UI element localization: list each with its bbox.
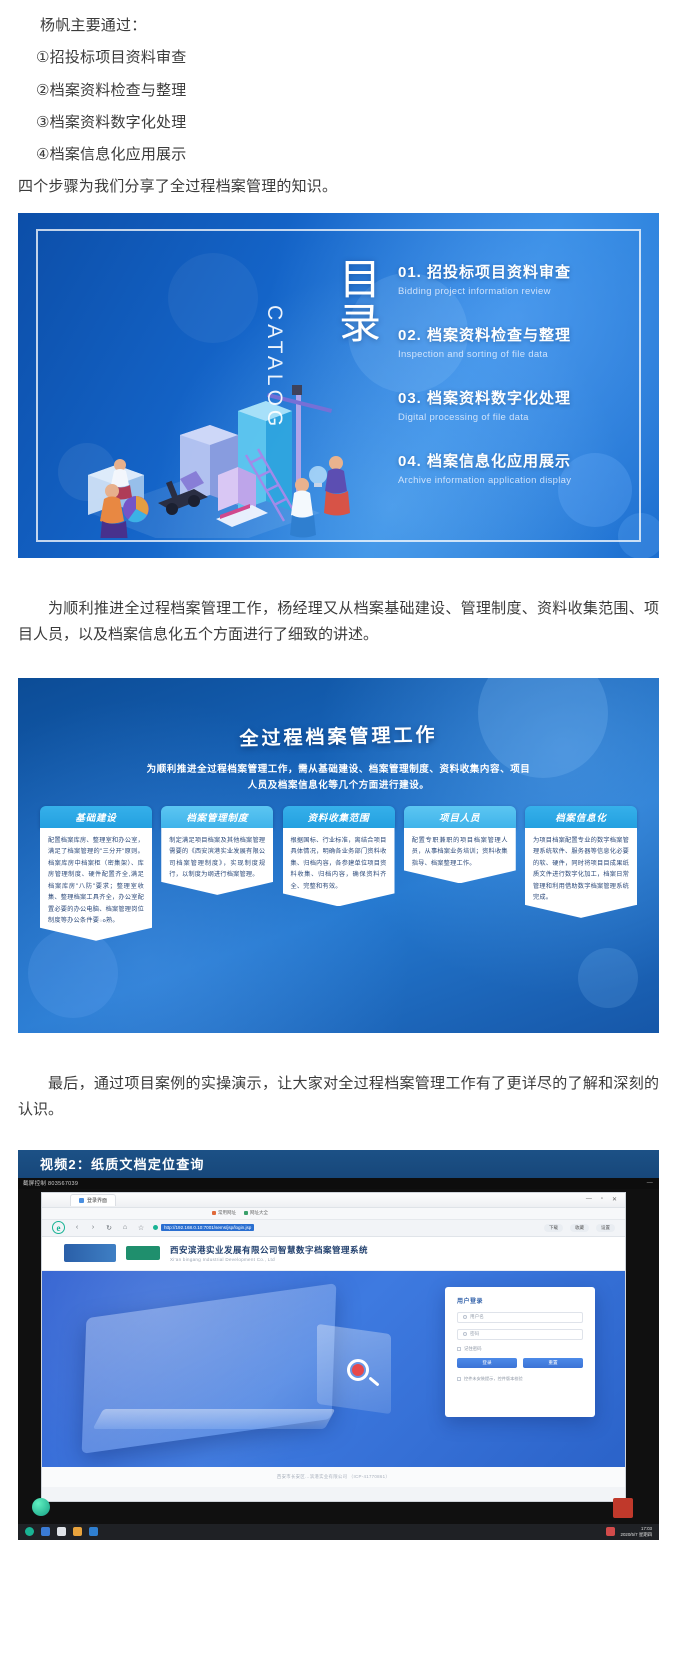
paragraph-mid: 为顺利推进全过程档案管理工作，杨经理又从档案基础建设、管理制度、资料收集范围、项…: [18, 558, 659, 649]
intro-lead: 杨帆主要通过：: [18, 14, 659, 37]
catalog-item-02-subtitle: Inspection and sorting of file data: [398, 349, 638, 360]
catalog-item-03-number: 03.: [398, 390, 422, 407]
home-icon[interactable]: ⌂: [121, 1224, 129, 1231]
login-hero: 用户登录 用户名 密码 记住密码: [42, 1271, 625, 1467]
intro-step-3: ③档案资料数字化处理: [18, 111, 659, 134]
login-button-row: 登录 重置: [457, 1358, 583, 1368]
infographic-card-1-body: 配置档案库房、整理室和办公室，满足了档案管理的"三分开"原则。档案库房中档案柜（…: [40, 828, 152, 941]
company-logo-secondary-icon: [126, 1246, 160, 1260]
intro-closing: 四个步骤为我们分享了全过程档案管理的知识。: [18, 175, 659, 198]
infographic-card-3: 资料收集范围 根据国标、行业标准，离结合项目具体情况，明确各业务部门资料收集、归…: [283, 806, 395, 941]
browser-window: 登录界面 — ▫ ✕ 常用网址 网址大全: [41, 1192, 626, 1502]
infographic: 全过程档案管理工作 为顺利推进全过程档案管理工作，需从基础建设、档案管理制度、资…: [18, 678, 659, 1033]
browser-tab[interactable]: 登录界面: [70, 1194, 116, 1206]
taskbar-tray: 17:03 2020/5/7 星期四: [606, 1526, 652, 1537]
back-arrow-icon[interactable]: ‹: [73, 1224, 81, 1231]
tab-favicon-icon: [79, 1198, 84, 1203]
decor-bubble: [578, 948, 638, 1008]
username-field[interactable]: 用户名: [457, 1312, 583, 1323]
favorites-button[interactable]: 收藏: [570, 1224, 589, 1232]
recorder-stop-button[interactable]: [613, 1498, 633, 1518]
infographic-card-4-header: 项目人员: [404, 806, 516, 828]
user-icon: [463, 1315, 467, 1319]
favorite-star-icon[interactable]: ☆: [137, 1224, 145, 1232]
recorder-bar: 截屏控制 803567039 —: [18, 1178, 659, 1189]
screen-capture-title: 视频2：纸质文档定位查询: [18, 1150, 659, 1178]
catalog-item-04-title: 档案信息化应用展示: [427, 453, 571, 470]
forward-arrow-icon[interactable]: ›: [89, 1224, 97, 1231]
infographic-card-row: 基础建设 配置档案库房、整理室和办公室，满足了档案管理的"三分开"原则。档案库房…: [40, 806, 637, 941]
browser-tab-strip: 登录界面 — ▫ ✕: [42, 1193, 625, 1208]
secure-lock-icon: [153, 1225, 158, 1230]
checkbox-icon: [457, 1347, 461, 1351]
infographic-card-5-body: 为项目档案配置专业的数字档案管理系统软件、服务器等信息化必要的软、硬件，同时将项…: [525, 828, 637, 918]
infographic-card-2-body: 制定满足项目档案及其他档案管理需要的《西安滨港实业发展有限公司档案管理制度》，实…: [161, 828, 273, 895]
illustration-svg: [70, 363, 360, 538]
infographic-card-2: 档案管理制度 制定满足项目档案及其他档案管理需要的《西安滨港实业发展有限公司档案…: [161, 806, 273, 941]
taskbar-explorer-icon[interactable]: [57, 1527, 66, 1536]
catalog-item-01-number: 01.: [398, 264, 422, 281]
catalog-item-01: 01. 招投标项目资料审查 Bidding project informatio…: [398, 261, 638, 297]
catalog-list: 01. 招投标项目资料审查 Bidding project informatio…: [398, 261, 638, 513]
bookmark-item-2[interactable]: 网址大全: [244, 1210, 268, 1216]
control-install-note-label: 控件未安装提示，控件版本校验: [464, 1376, 523, 1382]
decor-bubble: [28, 928, 118, 1018]
catalog-item-03: 03. 档案资料数字化处理 Digital processing of file…: [398, 387, 638, 423]
windows-taskbar: 17:03 2020/5/7 星期四: [18, 1524, 659, 1540]
system-title: 西安滨港实业发展有限公司智慧数字档案管理系统: [170, 1244, 368, 1256]
paragraph-mid-text: 为顺利推进全过程档案管理工作，杨经理又从档案基础建设、管理制度、资料收集范围、项…: [18, 600, 659, 643]
system-footer: 西安市长安区…滨港实业有限公司 （ICP-41770861）: [42, 1467, 625, 1487]
catalog-title-cn: 目录: [333, 259, 389, 347]
intro-step-4: ④档案信息化应用展示: [18, 143, 659, 166]
intro-step-2: ②档案资料检查与整理: [18, 79, 659, 102]
toolbar-right-actions: 下载 收藏 设置: [544, 1224, 615, 1232]
paragraph-end-text: 最后，通过项目案例的实操演示，让大家对全过程档案管理工作有了更详尽的了解和深刻的…: [18, 1075, 659, 1118]
refresh-icon[interactable]: ↻: [105, 1224, 113, 1232]
system-header-text: 西安滨港实业发展有限公司智慧数字档案管理系统 Xi'an bingang Ind…: [170, 1244, 368, 1262]
company-logo-icon: [64, 1244, 116, 1262]
control-install-note[interactable]: 控件未安装提示，控件版本校验: [457, 1376, 583, 1382]
bookmarks-bar: 常用网址 网址大全: [42, 1208, 625, 1220]
catalog-item-04: 04. 档案信息化应用展示 Archive information applic…: [398, 450, 638, 486]
laptop-base-illustration: [93, 1409, 336, 1429]
catalog-item-02: 02. 档案资料检查与整理 Inspection and sorting of …: [398, 324, 638, 360]
settings-button[interactable]: 设置: [596, 1224, 615, 1232]
bookmark-item-1[interactable]: 常用网址: [212, 1210, 236, 1216]
remember-password-label: 记住密码: [464, 1346, 482, 1352]
login-button[interactable]: 登录: [457, 1358, 517, 1368]
password-field[interactable]: 密码: [457, 1329, 583, 1340]
isometric-illustration: [70, 363, 360, 538]
note-icon: [457, 1377, 461, 1381]
browser-toolbar: e ‹ › ↻ ⌂ ☆ http://192.168.0.10:7001/sem…: [42, 1220, 625, 1237]
browser-tab-label: 登录界面: [87, 1197, 107, 1204]
catalog-banner: 目录 CATALOG 01. 招投标项目资料审查 Bidding project…: [18, 213, 659, 558]
intro-text-block: 杨帆主要通过： ①招投标项目资料审查 ②档案资料检查与整理 ③档案资料数字化处理…: [0, 0, 677, 199]
bookmark-item-1-label: 常用网址: [218, 1210, 236, 1216]
paragraph-end: 最后，通过项目案例的实操演示，让大家对全过程档案管理工作有了更详尽的了解和深刻的…: [18, 1033, 659, 1124]
magnifier-icon: [347, 1359, 369, 1381]
bookmark-item-2-label: 网址大全: [250, 1210, 268, 1216]
bookmark-icon: [212, 1211, 216, 1215]
catalog-banner-figure: 目录 CATALOG 01. 招投标项目资料审查 Bidding project…: [18, 213, 659, 558]
infographic-card-5: 档案信息化 为项目档案配置专业的数字档案管理系统软件、服务器等信息化必要的软、硬…: [525, 806, 637, 941]
catalog-item-02-title: 档案资料检查与整理: [427, 327, 571, 344]
catalog-item-03-title: 档案资料数字化处理: [427, 390, 571, 407]
reset-button[interactable]: 重置: [523, 1358, 583, 1368]
catalog-item-03-subtitle: Digital processing of file data: [398, 412, 638, 423]
download-button[interactable]: 下载: [544, 1224, 563, 1232]
taskbar-clock-date: 2020/5/7 星期四: [621, 1532, 652, 1538]
login-panel: 用户登录 用户名 密码 记住密码: [445, 1287, 595, 1417]
infographic-card-3-header: 资料收集范围: [283, 806, 395, 828]
recorder-minimize-button[interactable]: —: [647, 1180, 653, 1186]
screen-capture-body: 截屏控制 803567039 — 登录界面 — ▫ ✕: [18, 1178, 659, 1540]
catalog-title-en: CATALOG: [262, 305, 286, 430]
catalog-item-04-subtitle: Archive information application display: [398, 475, 638, 486]
infographic-subtitle: 为顺利推进全过程档案管理工作，需从基础建设、档案管理制度、资料收集内容、项目人员…: [146, 762, 531, 793]
infographic-card-5-header: 档案信息化: [525, 806, 637, 828]
password-placeholder: 密码: [470, 1331, 479, 1337]
catalog-item-01-subtitle: Bidding project information review: [398, 286, 638, 297]
start-menu-icon[interactable]: [25, 1527, 34, 1536]
username-placeholder: 用户名: [470, 1314, 484, 1320]
tray-alert-icon[interactable]: [606, 1527, 615, 1536]
lock-icon: [463, 1332, 467, 1336]
system-header: 西安滨港实业发展有限公司智慧数字档案管理系统 Xi'an bingang Ind…: [42, 1237, 625, 1271]
screen-capture: 视频2：纸质文档定位查询 截屏控制 803567039 — 登录界面 — ▫ ✕: [18, 1150, 659, 1540]
intro-step-1: ①招投标项目资料审查: [18, 46, 659, 69]
remember-password-checkbox[interactable]: 记住密码: [457, 1346, 583, 1352]
infographic-card-1-header: 基础建设: [40, 806, 152, 828]
screen-capture-figure: 视频2：纸质文档定位查询 截屏控制 803567039 — 登录界面 — ▫ ✕: [18, 1150, 659, 1540]
catalog-item-04-number: 04.: [398, 453, 422, 470]
taskbar-folder-icon[interactable]: [73, 1527, 82, 1536]
recorder-label: 截屏控制 803567039: [23, 1179, 78, 1187]
infographic-figure: 全过程档案管理工作 为顺利推进全过程档案管理工作，需从基础建设、档案管理制度、资…: [18, 678, 659, 1033]
minimize-icon[interactable]: —: [586, 1196, 592, 1203]
infographic-card-2-header: 档案管理制度: [161, 806, 273, 828]
maximize-icon[interactable]: ▫: [601, 1196, 603, 1203]
close-icon[interactable]: ✕: [612, 1196, 617, 1203]
infographic-card-4-body: 配置专职兼职的项目档案管理人员，从事档案业务培训；资料收集指导、档案整理工作。: [404, 828, 516, 883]
infographic-card-1: 基础建设 配置档案库房、整理室和办公室，满足了档案管理的"三分开"原则。档案库房…: [40, 806, 152, 941]
infographic-card-3-body: 根据国标、行业标准，离结合项目具体情况，明确各业务部门资料收集、归档内容，各参建…: [283, 828, 395, 906]
taskbar-app-icon[interactable]: [89, 1527, 98, 1536]
infographic-card-4: 项目人员 配置专职兼职的项目档案管理人员，从事档案业务培训；资料收集指导、档案整…: [404, 806, 516, 941]
catalog-item-02-number: 02.: [398, 327, 422, 344]
taskbar-clock[interactable]: 17:03 2020/5/7 星期四: [621, 1526, 652, 1537]
recorder-status-orb-icon: [32, 1498, 50, 1516]
window-controls: — ▫ ✕: [586, 1196, 625, 1203]
login-panel-title: 用户登录: [457, 1296, 583, 1305]
address-bar[interactable]: http://192.168.0.10:7001/sems/jsp/login.…: [153, 1223, 536, 1233]
taskbar-browser-icon[interactable]: [41, 1527, 50, 1536]
browser-logo-icon: e: [52, 1221, 65, 1234]
catalog-item-01-title: 招投标项目资料审查: [427, 264, 571, 281]
system-subtitle: Xi'an bingang Industrial Development Co.…: [170, 1257, 368, 1262]
bookmark-icon: [244, 1211, 248, 1215]
address-bar-value: http://192.168.0.10:7001/sems/jsp/login.…: [161, 1224, 254, 1231]
